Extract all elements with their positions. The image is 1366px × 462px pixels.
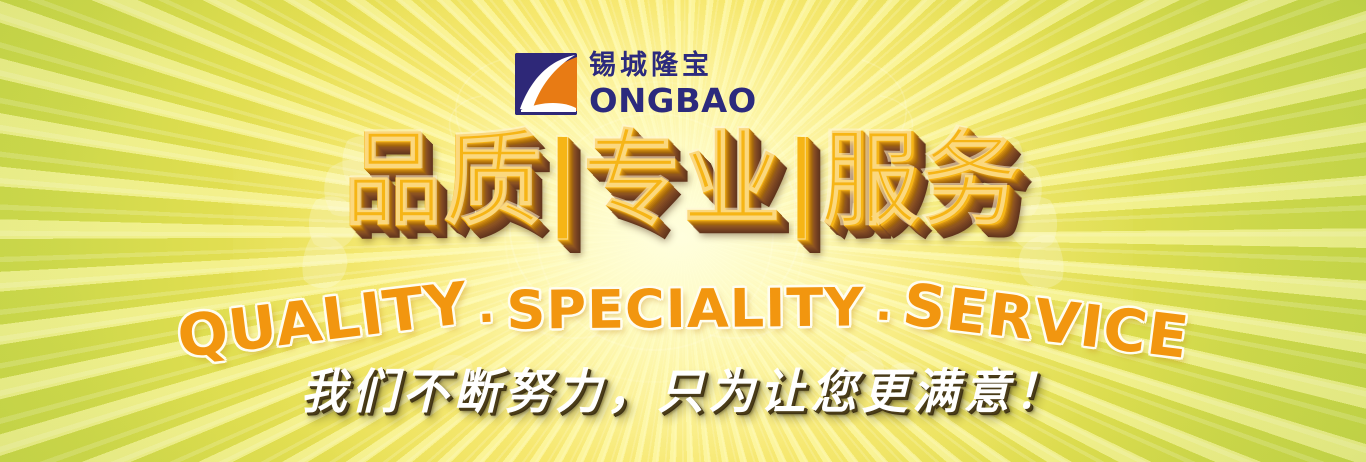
chinese-slogan: 我们不断努力，只为让您更满意！ — [0, 354, 1366, 423]
english-tagline: QUALITY·SPECIALITY·SERVICE — [0, 280, 1366, 348]
headline-part-3: 服务 — [823, 121, 1023, 242]
sail-logo-icon — [515, 53, 577, 115]
company-logo[interactable]: 锡城隆宝 ONGBAO — [515, 45, 835, 123]
tagline-dot-2: · — [873, 291, 894, 343]
headline-part-2: 专业 — [583, 121, 783, 242]
headline-3d: 品质|专业|服务 — [0, 129, 1366, 235]
tagline-word-speciality: SPECIALITY — [506, 277, 864, 341]
logo-english-name: ONGBAO — [589, 84, 757, 117]
tagline-dot-1: · — [477, 293, 498, 345]
headline-separator-2: | — [783, 121, 823, 242]
headline-part-1: 品质 — [343, 121, 543, 242]
promotional-banner: ONGBAO 锡城隆宝 ONGBAO 品质|专业|服务 品质|专业|服务 QUA… — [0, 0, 1366, 462]
headline-separator-1: | — [543, 121, 583, 242]
logo-chinese-name: 锡城隆宝 — [589, 52, 754, 82]
